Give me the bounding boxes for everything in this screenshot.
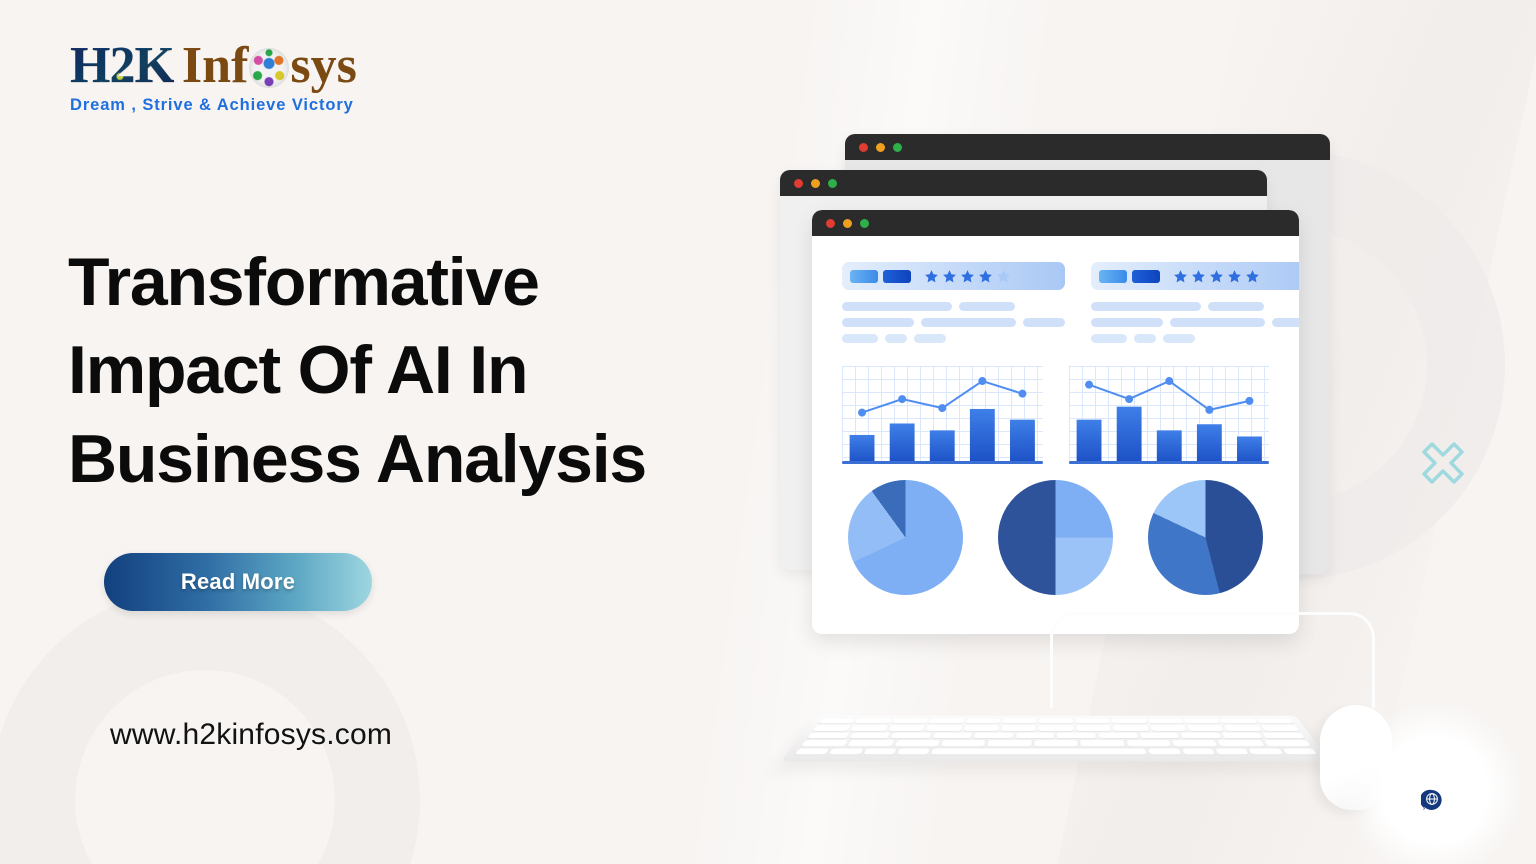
keyboard-key[interactable] [829, 748, 863, 754]
keyboard-key[interactable] [1181, 733, 1222, 739]
placeholder-line [885, 334, 907, 343]
logo-wordmark: H2K Inf sys [70, 36, 410, 92]
chart-bar [890, 423, 915, 464]
placeholder-line-row [842, 302, 1065, 311]
rating-bar [1091, 262, 1299, 290]
pie-chart-2 [998, 480, 1113, 595]
rating-bar [842, 262, 1065, 290]
star-icon [924, 269, 939, 284]
placeholder-line [842, 334, 878, 343]
dashboard-illustration [760, 100, 1460, 820]
placeholder-line [1091, 302, 1201, 311]
keyboard-key[interactable] [795, 748, 830, 754]
tag-chip-light [1099, 270, 1127, 283]
back-window-titlebar [845, 134, 1330, 160]
chart-line [1089, 381, 1249, 410]
keyboard-key[interactable] [929, 718, 965, 723]
star-icon [1191, 269, 1206, 284]
keyboard-key[interactable] [890, 733, 931, 739]
keyboard-keys [795, 718, 1317, 754]
minimize-dot-icon [843, 219, 852, 228]
keyboard-key[interactable] [850, 725, 888, 730]
keyboard-row [813, 725, 1300, 730]
keyboard-key[interactable] [1057, 733, 1096, 739]
keyboard-key[interactable] [1113, 725, 1149, 730]
tag-chip-dark [1132, 270, 1160, 283]
star-icon [1245, 269, 1260, 284]
placeholder-line [842, 302, 952, 311]
keyboard-key-space[interactable] [931, 748, 1147, 754]
chart-bar [1116, 407, 1141, 464]
keyboard-key[interactable] [1184, 718, 1220, 723]
star-rating [924, 269, 1011, 284]
keyboard[interactable] [781, 716, 1331, 762]
chart-bar [1196, 424, 1221, 464]
logo-tagline: Dream , Strive & Achieve Victory [70, 96, 410, 115]
placeholder-line [959, 302, 1015, 311]
chart-bar [1076, 420, 1101, 464]
keyboard-row [818, 718, 1294, 723]
chart-baseline [842, 461, 1043, 464]
chart-bar [930, 430, 955, 464]
placeholder-line [1134, 334, 1156, 343]
globe-badge-icon[interactable] [1421, 789, 1443, 811]
chart-baseline [1069, 461, 1270, 464]
keyboard-key[interactable] [1080, 740, 1124, 746]
keyboard-key[interactable] [892, 718, 928, 723]
keyboard-key[interactable] [1148, 718, 1184, 723]
keyboard-key[interactable] [1264, 740, 1311, 746]
keyboard-key[interactable] [988, 740, 1032, 746]
left-combo-chart [842, 366, 1043, 464]
page-title: Transformative Impact Of AI In Business … [68, 238, 768, 503]
keyboard-key[interactable] [849, 733, 891, 739]
keyboard-key[interactable] [1282, 748, 1317, 754]
placeholder-line-row [1091, 334, 1299, 343]
headline-line-2: Impact Of AI In [68, 326, 768, 414]
chart-point [858, 409, 866, 417]
keyboard-key[interactable] [888, 725, 925, 730]
chart-svg [842, 366, 1043, 464]
headline-line-3: Business Analysis [68, 415, 768, 503]
mouse-cable-left [1050, 612, 1302, 708]
placeholder-line [1163, 334, 1195, 343]
keyboard-row [801, 740, 1311, 746]
keyboard-key[interactable] [897, 748, 930, 754]
minimize-dot-icon [876, 143, 885, 152]
keyboard-key[interactable] [801, 740, 848, 746]
chart-point [898, 395, 906, 403]
close-dot-icon [826, 219, 835, 228]
chart-bar [850, 435, 875, 464]
chart-bar [1010, 420, 1035, 464]
front-window-titlebar [812, 210, 1299, 236]
maximize-dot-icon [828, 179, 837, 188]
maximize-dot-icon [893, 143, 902, 152]
keyboard-key[interactable] [1076, 718, 1110, 723]
keyboard-key[interactable] [807, 733, 849, 739]
placeholder-lines [1091, 302, 1299, 343]
keyboard-key[interactable] [1139, 733, 1179, 739]
pie-chart-3 [1148, 480, 1263, 595]
star-icon [1173, 269, 1188, 284]
keyboard-key[interactable] [1112, 718, 1147, 723]
background-glow [1345, 700, 1525, 864]
keyboard-key[interactable] [1215, 748, 1249, 754]
website-url[interactable]: www.h2kinfosys.com [110, 718, 392, 752]
keyboard-key[interactable] [926, 725, 962, 730]
keyboard-key[interactable] [1016, 733, 1055, 739]
maximize-dot-icon [860, 219, 869, 228]
keyboard-key[interactable] [1076, 725, 1111, 730]
keyboard-key[interactable] [1150, 725, 1186, 730]
placeholder-line [1091, 334, 1127, 343]
placeholder-line-row [1091, 302, 1299, 311]
combo-charts-row [842, 366, 1269, 464]
placeholder-line-row [842, 334, 1065, 343]
keyboard-key[interactable] [1098, 733, 1137, 739]
chart-point [1205, 406, 1213, 414]
minimize-dot-icon [811, 179, 820, 188]
placeholder-line [1208, 302, 1264, 311]
logo-inf-text: Inf [182, 40, 248, 92]
chart-bar [970, 409, 995, 464]
front-window [812, 210, 1299, 634]
keyboard-key[interactable] [1001, 725, 1036, 730]
mouse-cable-right [1300, 612, 1375, 708]
keyboard-key[interactable] [941, 740, 986, 746]
review-cards-row [842, 262, 1269, 350]
keyboard-key[interactable] [1039, 718, 1073, 723]
keyboard-key[interactable] [1257, 718, 1294, 723]
chart-point [1245, 397, 1253, 405]
brand-logo[interactable]: H2K Inf sys Dream , Strive & Achieve Vic… [70, 36, 410, 115]
chart-point [938, 404, 946, 412]
logo-sys-text: sys [290, 40, 356, 92]
star-rating [1173, 269, 1260, 284]
keyboard-key[interactable] [1224, 725, 1262, 730]
keyboard-key[interactable] [1039, 725, 1074, 730]
keyboard-key[interactable] [1148, 748, 1181, 754]
chart-point [1018, 390, 1026, 398]
chart-bar [1237, 436, 1262, 464]
star-icon [1209, 269, 1224, 284]
keyboard-key[interactable] [932, 733, 972, 739]
placeholder-line [1023, 318, 1065, 327]
keyboard-row [807, 733, 1305, 739]
tag-chip-dark [883, 270, 911, 283]
keyboard-key[interactable] [818, 718, 855, 723]
keyboard-key[interactable] [1187, 725, 1224, 730]
chart-point [978, 377, 986, 385]
keyboard-key[interactable] [813, 725, 851, 730]
placeholder-line [1091, 318, 1163, 327]
keyboard-key[interactable] [863, 748, 897, 754]
front-window-body [812, 236, 1299, 595]
keyboard-key[interactable] [1220, 718, 1257, 723]
chart-point [1165, 377, 1173, 385]
keyboard-key[interactable] [1249, 748, 1283, 754]
close-dot-icon [794, 179, 803, 188]
keyboard-key[interactable] [974, 733, 1013, 739]
chart-point [1125, 395, 1133, 403]
headline-line-1: Transformative [68, 238, 768, 326]
keyboard-key[interactable] [1126, 740, 1171, 746]
star-icon [960, 269, 975, 284]
keyboard-key[interactable] [1034, 740, 1078, 746]
keyboard-key[interactable] [848, 740, 894, 746]
chart-bar [1156, 430, 1181, 464]
keyboard-row [795, 748, 1317, 754]
close-dot-icon [859, 143, 868, 152]
right-review-card [1091, 262, 1299, 350]
tag-chip-light [850, 270, 878, 283]
placeholder-lines [842, 302, 1065, 343]
keyboard-key[interactable] [1263, 733, 1305, 739]
pie-chart-1 [848, 480, 963, 595]
keyboard-key[interactable] [1222, 733, 1264, 739]
middle-window-titlebar [780, 170, 1267, 196]
left-review-card [842, 262, 1065, 350]
star-icon [942, 269, 957, 284]
placeholder-line-row [842, 318, 1065, 327]
star-icon [1227, 269, 1242, 284]
chart-svg [1069, 366, 1270, 464]
keyboard-key[interactable] [1002, 718, 1036, 723]
placeholder-line [842, 318, 914, 327]
x-cross-icon [1412, 432, 1474, 494]
keyboard-key[interactable] [1218, 740, 1264, 746]
right-combo-chart [1069, 366, 1270, 464]
placeholder-line-row [1091, 318, 1299, 327]
star-icon [996, 269, 1011, 284]
read-more-button[interactable]: Read More [104, 553, 372, 611]
placeholder-line [914, 334, 946, 343]
keyboard-key[interactable] [1172, 740, 1218, 746]
pie-charts-row [842, 480, 1269, 595]
keyboard-key[interactable] [855, 718, 892, 723]
keyboard-key[interactable] [965, 718, 1000, 723]
star-icon [978, 269, 993, 284]
placeholder-line [1170, 318, 1265, 327]
chart-point [1085, 381, 1093, 389]
placeholder-line [921, 318, 1016, 327]
keyboard-key[interactable] [894, 740, 940, 746]
keyboard-key[interactable] [963, 725, 999, 730]
placeholder-line [1272, 318, 1299, 327]
keyboard-key[interactable] [1261, 725, 1299, 730]
keyboard-key[interactable] [1182, 748, 1215, 754]
logo-h2k-text: H2K [70, 40, 174, 92]
people-globe-icon [249, 48, 289, 88]
